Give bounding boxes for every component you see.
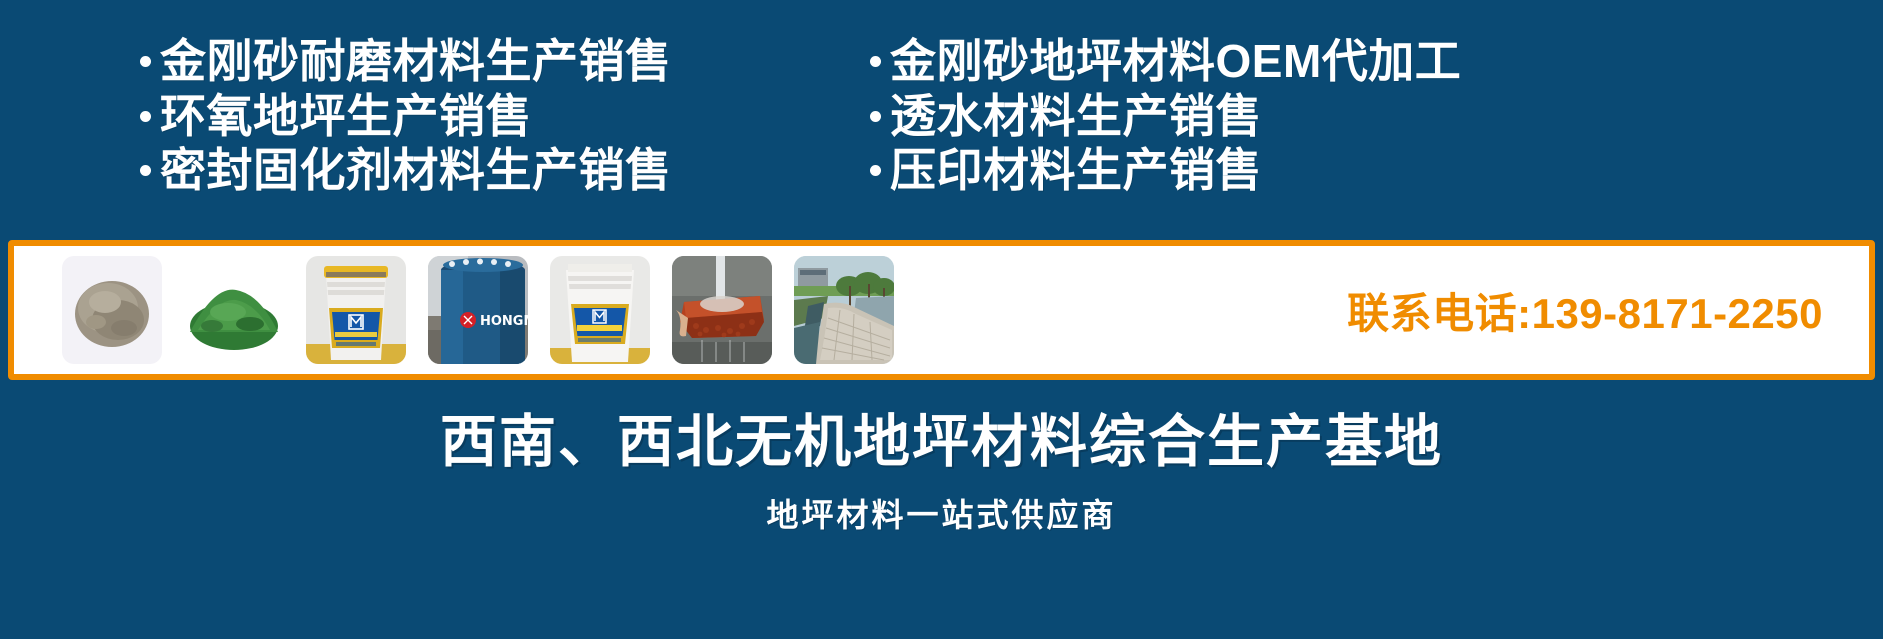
bullet-icon bbox=[140, 56, 151, 67]
product-strip: HONGM bbox=[8, 240, 1875, 380]
feature-item-label: 密封固化剂材料生产销售 bbox=[160, 143, 672, 198]
svg-text:HONGM: HONGM bbox=[480, 314, 528, 329]
gray-powder-photo bbox=[62, 256, 162, 364]
product-thumbnail-list: HONGM bbox=[62, 246, 894, 374]
promo-banner: 金刚砂耐磨材料生产销售 环氧地坪生产销售 密封固化剂材料生产销售 金刚砂地坪材料… bbox=[0, 0, 1883, 639]
feature-column-left: 金刚砂耐磨材料生产销售 环氧地坪生产销售 密封固化剂材料生产销售 bbox=[140, 34, 860, 240]
hongma-drum-photo: HONGM bbox=[428, 256, 528, 364]
contact-phone[interactable]: 联系电话:139-8171-2250 bbox=[1347, 280, 1823, 341]
feature-item: 环氧地坪生产销售 bbox=[140, 89, 860, 144]
green-powder-photo bbox=[184, 256, 284, 364]
pervious-concrete-photo bbox=[672, 256, 772, 364]
sub-headline: 地坪材料一站式供应商 bbox=[766, 490, 1116, 536]
main-headline: 西南、西北无机地坪材料综合生产基地 bbox=[440, 396, 1443, 478]
epoxy-bucket-photo bbox=[550, 256, 650, 364]
bullet-icon bbox=[870, 56, 881, 67]
feature-item-label: 金刚砂地坪材料OEM代加工 bbox=[890, 34, 1461, 89]
feature-item: 金刚砂耐磨材料生产销售 bbox=[140, 34, 860, 89]
feature-column-right: 金刚砂地坪材料OEM代加工 透水材料生产销售 压印材料生产销售 bbox=[870, 34, 1880, 240]
feature-item-label: 金刚砂耐磨材料生产销售 bbox=[160, 34, 672, 89]
feature-item: 金刚砂地坪材料OEM代加工 bbox=[870, 34, 1880, 89]
feature-item: 透水材料生产销售 bbox=[870, 89, 1880, 144]
feature-item-label: 透水材料生产销售 bbox=[890, 89, 1262, 144]
feature-item-label: 环氧地坪生产销售 bbox=[160, 89, 532, 144]
bullet-icon bbox=[140, 111, 151, 122]
stamped-path-photo bbox=[794, 256, 894, 364]
feature-item: 压印材料生产销售 bbox=[870, 143, 1880, 198]
bullet-icon bbox=[870, 111, 881, 122]
bottom-headline-section: 西南、西北无机地坪材料综合生产基地 地坪材料一站式供应商 bbox=[0, 380, 1883, 639]
feature-item: 密封固化剂材料生产销售 bbox=[140, 143, 860, 198]
bullet-icon bbox=[140, 165, 151, 176]
bullet-icon bbox=[870, 165, 881, 176]
feature-list-section: 金刚砂耐磨材料生产销售 环氧地坪生产销售 密封固化剂材料生产销售 金刚砂地坪材料… bbox=[0, 0, 1883, 240]
feature-item-label: 压印材料生产销售 bbox=[890, 143, 1262, 198]
sealer-bucket-photo bbox=[306, 256, 406, 364]
